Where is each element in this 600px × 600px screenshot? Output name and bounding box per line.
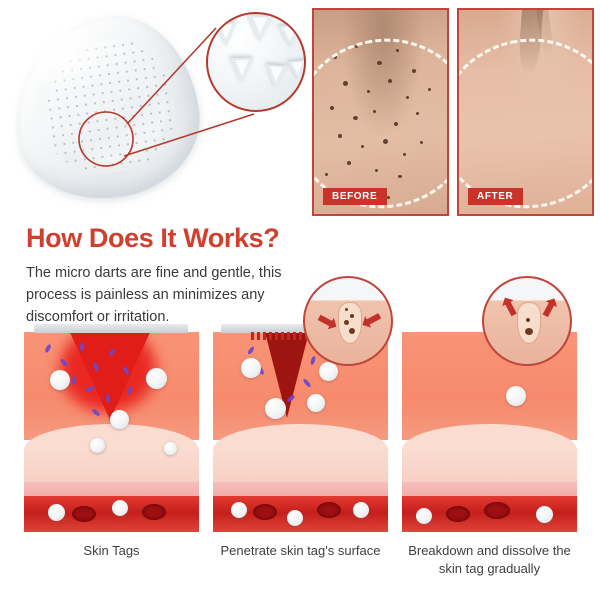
red-blood-cell: [253, 504, 277, 520]
after-badge: AFTER: [468, 188, 523, 205]
pore-debris: [350, 314, 354, 318]
process-steps: Skin Tags: [22, 276, 578, 596]
clogged-pore: [338, 302, 362, 344]
highlight-ellipse: [457, 22, 594, 216]
white-blood-cell: [90, 438, 105, 453]
step-caption: Breakdown and dissolve the skin tag grad…: [402, 542, 577, 579]
skin-cross-section-1: [24, 332, 199, 532]
microdart-shape: [287, 60, 306, 83]
before-badge: BEFORE: [323, 188, 387, 205]
white-blood-cell: [307, 394, 325, 412]
white-blood-cell: [231, 502, 247, 518]
page-title: How Does It Works?: [26, 224, 332, 254]
before-skin-photo: [314, 10, 447, 214]
step-panel-1: Skin Tags: [24, 276, 199, 596]
vessel-fade: [402, 531, 577, 532]
dermis-layer: [213, 450, 388, 486]
white-blood-cell: [506, 386, 526, 406]
vessel-fade: [24, 531, 199, 532]
pore-debris: [344, 320, 349, 325]
white-blood-cell: [241, 358, 261, 378]
white-blood-cell: [48, 504, 65, 521]
white-blood-cell: [110, 410, 129, 429]
red-blood-cell: [317, 502, 341, 518]
microdart-shape: [264, 64, 288, 89]
step-caption: Skin Tags: [24, 542, 199, 560]
patch-applicator: [34, 324, 188, 333]
white-blood-cell: [164, 442, 177, 455]
microdart-shape: [278, 25, 301, 50]
white-blood-cell: [287, 510, 303, 526]
microdart-shape: [230, 58, 254, 84]
before-photo-card: BEFORE: [312, 8, 449, 216]
dermis-layer: [402, 450, 577, 486]
after-skin-photo: [459, 10, 592, 214]
red-blood-cell: [142, 504, 166, 520]
vessel-fade: [213, 531, 388, 532]
after-photo-card: AFTER: [457, 8, 594, 216]
pore-debris: [526, 318, 530, 322]
microdart-magnifier-inset: [206, 12, 306, 112]
product-infographic: BEFORE AFTER How Does It Works? The micr…: [0, 0, 600, 600]
white-blood-cell: [416, 508, 432, 524]
microdart-shape: [247, 15, 273, 43]
pore-debris: [345, 308, 348, 311]
skin-cross-section-3: [402, 332, 577, 532]
step-panel-2: ➡ ➡ Penetrate skin tag's surface: [213, 276, 388, 596]
white-blood-cell: [50, 370, 70, 390]
pore-inset-penetration: ➡ ➡: [303, 276, 393, 366]
red-blood-cell: [446, 506, 470, 522]
white-blood-cell: [536, 506, 553, 523]
white-blood-cell: [319, 362, 338, 381]
before-after-comparison: BEFORE AFTER: [312, 8, 594, 216]
pore-debris: [525, 328, 533, 335]
product-hero: [8, 4, 308, 219]
white-blood-cell: [112, 500, 128, 516]
red-blood-cell: [484, 502, 510, 519]
step-caption: Penetrate skin tag's surface: [213, 542, 388, 560]
arrow-down-icon: ➡: [356, 304, 387, 337]
pore-debris: [349, 328, 355, 334]
step-panel-3: ➡ ➡ Breakdown and dissolve the skin tag …: [402, 276, 577, 596]
white-blood-cell: [146, 368, 167, 389]
pore-inset-dissolve: ➡ ➡: [482, 276, 572, 366]
red-blood-cell: [72, 506, 96, 522]
white-blood-cell: [265, 398, 286, 419]
microdart-shape: [214, 22, 238, 47]
white-blood-cell: [353, 502, 369, 518]
dermis-layer: [24, 450, 199, 486]
